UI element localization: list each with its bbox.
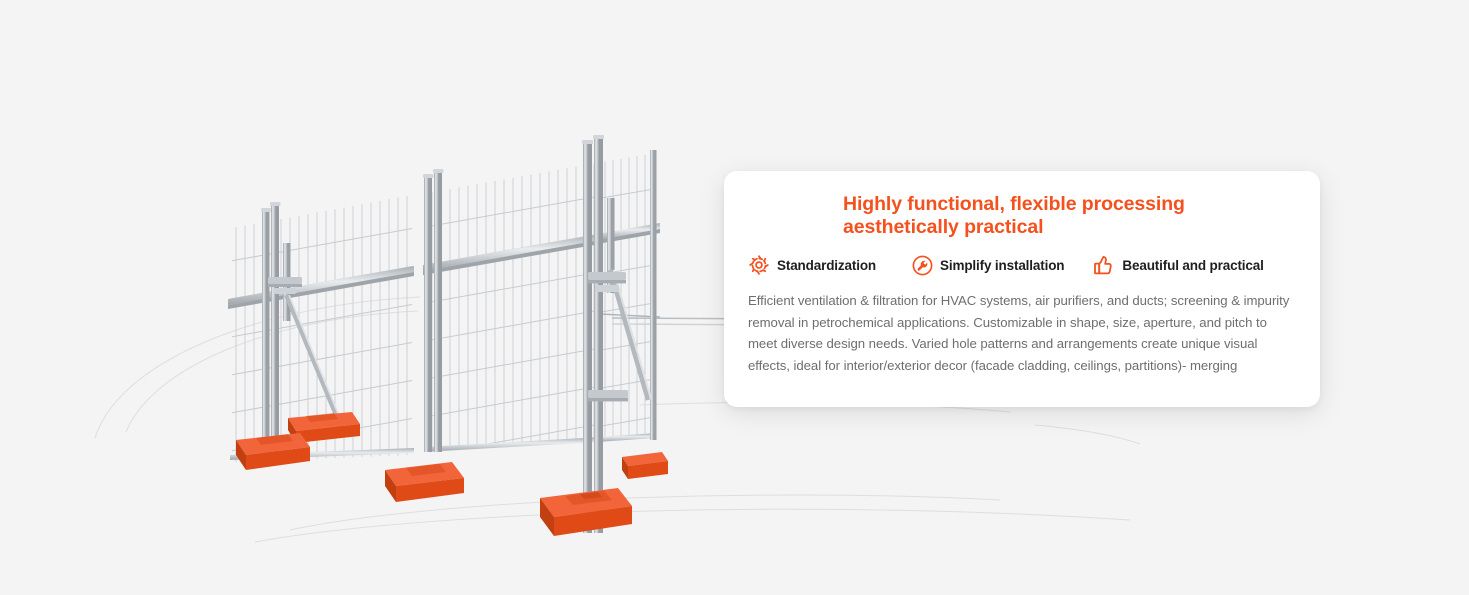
fence-base [385, 462, 464, 502]
fence-panel-left [225, 180, 415, 480]
fence-base [540, 488, 632, 536]
fence-base [288, 412, 360, 443]
gear-icon [748, 254, 770, 276]
info-card: Highly functional, flexible processing a… [724, 171, 1320, 407]
feature-simplify-installation[interactable]: Simplify installation [912, 255, 1064, 276]
fence-bottom-rails [230, 433, 656, 460]
feature-standardization[interactable]: Standardization [748, 254, 876, 276]
fence-top-rails [228, 223, 660, 309]
thumbs-up-icon [1091, 253, 1115, 277]
fence-panel-right [590, 140, 660, 455]
wrench-circle-icon [912, 255, 933, 276]
feature-list: Standardization Simplify installation [724, 239, 1320, 277]
feature-label: Standardization [777, 258, 876, 273]
page-root: Highly functional, flexible processing a… [0, 0, 1469, 595]
feature-label: Beautiful and practical [1122, 258, 1263, 273]
card-title: Highly functional, flexible processing a… [724, 171, 1320, 239]
fence-base [236, 433, 310, 470]
fence-posts [261, 135, 657, 533]
fence-braces [268, 198, 652, 430]
feature-beautiful-and-practical[interactable]: Beautiful and practical [1091, 253, 1263, 277]
fence-panel-middle [420, 150, 600, 470]
feature-label: Simplify installation [940, 258, 1064, 273]
card-description: Efficient ventilation & filtration for H… [724, 277, 1320, 376]
fence-base [622, 452, 668, 479]
